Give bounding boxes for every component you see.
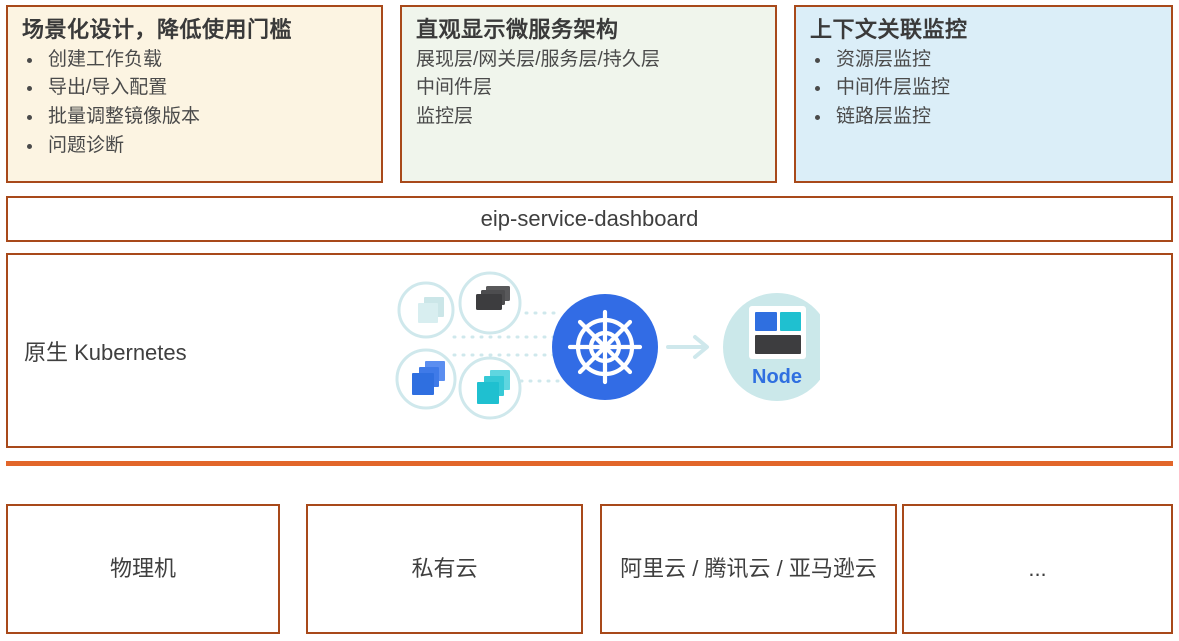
list-item: 中间件层 xyxy=(416,74,761,103)
feature-card-microservice-architecture: 直观显示微服务架构 展现层/网关层/服务层/持久层 中间件层 监控层 xyxy=(400,5,777,183)
infra-box-others: ... xyxy=(902,504,1173,634)
infra-box-private-cloud: 私有云 xyxy=(306,504,583,634)
feature-card-list: 展现层/网关层/服务层/持久层 中间件层 监控层 xyxy=(416,46,761,133)
feature-card-list: 资源层监控 中间件层监控 链路层监控 xyxy=(810,46,1157,133)
list-item: 创建工作负载 xyxy=(22,46,367,75)
kubernetes-illustration: Node xyxy=(380,263,820,439)
feature-card-row: 场景化设计，降低使用门槛 创建工作负载 导出/导入配置 批量调整镜像版本 问题诊… xyxy=(6,5,1173,183)
list-item: 批量调整镜像版本 xyxy=(22,103,367,132)
feature-card-title: 直观显示微服务架构 xyxy=(416,16,761,44)
list-item: 展现层/网关层/服务层/持久层 xyxy=(416,46,761,75)
list-item: 资源层监控 xyxy=(810,46,1157,75)
kubernetes-helm-icon xyxy=(552,294,658,400)
architecture-diagram: 场景化设计，降低使用门槛 创建工作负载 导出/导入配置 批量调整镜像版本 问题诊… xyxy=(0,0,1179,641)
pod-stack-pale-icon xyxy=(399,283,453,337)
feature-card-scenario-design: 场景化设计，降低使用门槛 创建工作负载 导出/导入配置 批量调整镜像版本 问题诊… xyxy=(6,5,383,183)
list-item: 导出/导入配置 xyxy=(22,74,367,103)
infra-box-label: 物理机 xyxy=(100,553,186,585)
node-icon: Node xyxy=(723,293,820,401)
infrastructure-row: 物理机 私有云 阿里云 / 腾讯云 / 亚马逊云 ... xyxy=(6,504,1173,634)
infra-box-public-cloud: 阿里云 / 腾讯云 / 亚马逊云 xyxy=(600,504,897,634)
list-item: 监控层 xyxy=(416,103,761,132)
dashboard-label: eip-service-dashboard xyxy=(481,206,699,232)
list-item: 中间件层监控 xyxy=(810,74,1157,103)
feature-card-context-monitoring: 上下文关联监控 资源层监控 中间件层监控 链路层监控 xyxy=(794,5,1173,183)
kubernetes-band: 原生 Kubernetes xyxy=(6,253,1173,448)
infra-box-label: 阿里云 / 腾讯云 / 亚马逊云 xyxy=(610,553,887,585)
section-divider xyxy=(6,461,1173,466)
arrow-right-icon xyxy=(668,337,707,357)
node-label: Node xyxy=(752,366,802,388)
infra-box-label: ... xyxy=(1018,553,1056,585)
infra-box-label: 私有云 xyxy=(401,553,487,585)
list-item: 问题诊断 xyxy=(22,132,367,161)
feature-card-title: 场景化设计，降低使用门槛 xyxy=(22,16,367,44)
list-item: 链路层监控 xyxy=(810,103,1157,132)
feature-card-list: 创建工作负载 导出/导入配置 批量调整镜像版本 问题诊断 xyxy=(22,46,367,162)
infra-box-physical-machine: 物理机 xyxy=(6,504,280,634)
pod-stack-teal-icon xyxy=(460,358,520,418)
pod-stack-blue-icon xyxy=(397,350,455,408)
kubernetes-label: 原生 Kubernetes xyxy=(24,335,187,367)
eip-service-dashboard-bar: eip-service-dashboard xyxy=(6,196,1173,242)
pod-stack-dark-icon xyxy=(460,273,520,333)
feature-card-title: 上下文关联监控 xyxy=(810,16,1157,44)
